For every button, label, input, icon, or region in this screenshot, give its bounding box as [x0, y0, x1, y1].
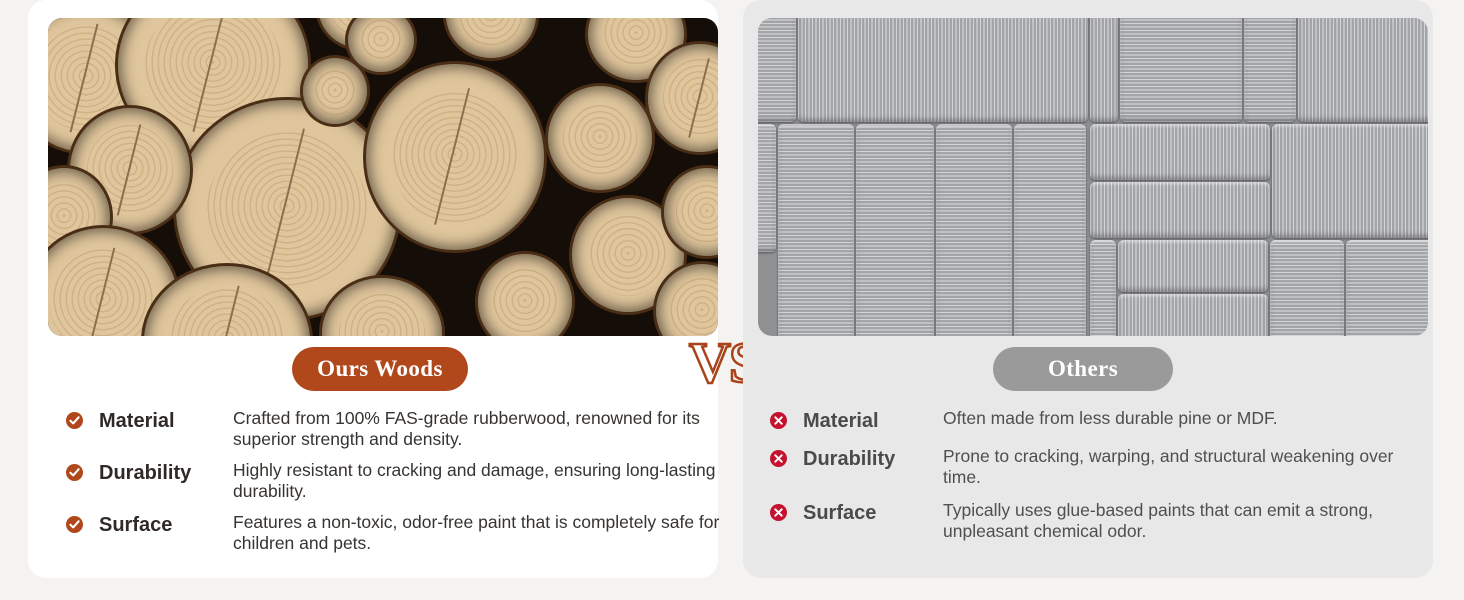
check-circle-icon [66, 464, 83, 481]
feature-label: Durability [803, 446, 943, 472]
feature-description: Crafted from 100% FAS-grade rubberwood, … [233, 408, 726, 450]
feature-row: Durability Prone to cracking, warping, a… [770, 446, 1430, 488]
feature-row: Material Crafted from 100% FAS-grade rub… [66, 408, 726, 450]
check-circle-icon [66, 516, 83, 533]
others-badge: Others [993, 347, 1173, 391]
feature-label: Surface [803, 500, 943, 526]
feature-description: Features a non-toxic, odor-free paint th… [233, 512, 726, 554]
feature-description: Highly resistant to cracking and damage,… [233, 460, 726, 502]
feature-row: Material Often made from less durable pi… [770, 408, 1430, 434]
feature-row: Surface Typically uses glue-based paints… [770, 500, 1430, 542]
ours-badge: Ours Woods [292, 347, 468, 391]
check-circle-icon [66, 412, 83, 429]
x-circle-icon [770, 450, 787, 467]
parquet-artwork [758, 18, 1428, 336]
feature-row: Durability Highly resistant to cracking … [66, 460, 726, 502]
feature-row: Surface Features a non-toxic, odor-free … [66, 512, 726, 554]
comparison-infographic: Ours Woods Material Crafted from 100% FA… [0, 0, 1464, 600]
feature-label: Surface [99, 512, 233, 538]
feature-description: Prone to cracking, warping, and structur… [943, 446, 1430, 488]
others-feature-list: Material Often made from less durable pi… [770, 408, 1430, 554]
feature-description: Typically uses glue-based paints that ca… [943, 500, 1430, 542]
others-product-image [758, 18, 1428, 336]
x-circle-icon [770, 504, 787, 521]
feature-description: Often made from less durable pine or MDF… [943, 408, 1430, 429]
ours-product-image [48, 18, 718, 336]
feature-label: Material [99, 408, 233, 434]
feature-label: Material [803, 408, 943, 434]
logs-artwork [48, 18, 718, 336]
feature-label: Durability [99, 460, 233, 486]
ours-feature-list: Material Crafted from 100% FAS-grade rub… [66, 408, 726, 564]
x-circle-icon [770, 412, 787, 429]
